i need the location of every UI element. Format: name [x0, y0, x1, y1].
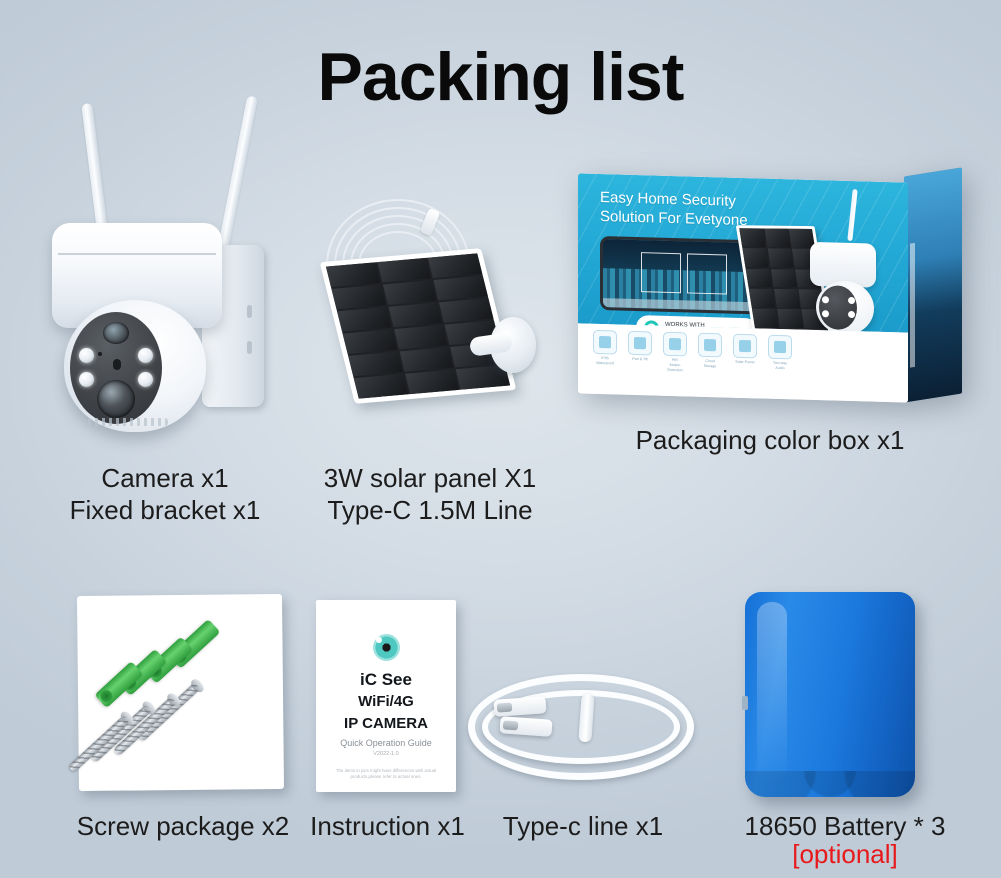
cloud-storage-icon: [698, 332, 722, 357]
mic-hole-icon: [98, 352, 102, 356]
type-c-line-caption: Type-c line x1: [483, 810, 683, 842]
camera-face-panel: [70, 312, 162, 424]
led-icon: [79, 348, 94, 363]
feature-item: Pan & Tilt: [627, 330, 653, 372]
type-c-connector-icon: [499, 716, 552, 737]
retail-box-icon: Easy Home Security Solution For Evetyone…: [578, 172, 962, 404]
instruction-caption: Instruction x1: [300, 810, 475, 842]
solar-panel-icon: [320, 195, 550, 415]
feature-item: IP65 Waterproof: [592, 329, 618, 371]
feature-item: Solar Power: [732, 333, 758, 375]
manual-line-2: WiFi/4G: [316, 693, 456, 710]
pir-sensor-icon: [113, 359, 121, 370]
feature-item: PIR Motion Detection: [662, 331, 688, 373]
box-headline: Easy Home Security Solution For Evetyone: [600, 188, 748, 230]
motion-detect-icon: [663, 331, 687, 356]
led-icon: [79, 372, 94, 387]
battery-tab-icon: [742, 696, 748, 710]
color-box-caption: Packaging color box x1: [590, 424, 950, 456]
battery-optional-note: [optional]: [700, 838, 990, 870]
ptz-camera-icon: [50, 95, 280, 455]
ic-see-eye-logo-icon: [373, 634, 400, 661]
camera-caption: Camera x1 Fixed bracket x1: [20, 462, 310, 526]
box-feature-icons: IP65 Waterproof Pan & Tilt PIR Motion De…: [592, 329, 793, 376]
led-icon: [138, 372, 153, 387]
packing-list-page: Packing list Camera x1 Fixed bracket x1: [0, 0, 1001, 878]
screws-and-anchors-icon: [77, 594, 284, 791]
solar-power-icon: [733, 333, 757, 358]
manual-subtitle: Quick Operation Guide: [316, 738, 456, 748]
feature-item: Two-way Audio: [767, 334, 793, 376]
manual-brand: iC See: [316, 670, 456, 690]
screw-package-caption: Screw package x2: [58, 810, 308, 842]
antenna-right-icon: [217, 95, 258, 254]
pan-tilt-icon: [628, 330, 652, 355]
solar-panel-caption: 3W solar panel X1 Type-C 1.5M Line: [280, 462, 580, 526]
camera-dome: [64, 300, 206, 432]
solar-panel-mount: [470, 313, 536, 379]
feature-item: Cloud Storage: [697, 332, 723, 374]
box-front-panel: Easy Home Security Solution For Evetyone…: [578, 173, 908, 402]
battery-pack-icon: [745, 592, 915, 797]
speaker-vent-icon: [88, 418, 168, 426]
camera-top-lens-icon: [103, 322, 129, 344]
box-art-camera-icon: [806, 216, 892, 332]
manual-line-3: IP CAMERA: [316, 715, 456, 732]
manual-disclaimer: The items in pics might have differences…: [326, 768, 446, 780]
box-side-panel: [904, 167, 962, 402]
led-icon: [138, 348, 153, 363]
manual-version: V2022-1.0: [316, 751, 456, 757]
usb-connector-icon: [493, 696, 546, 717]
usb-cable-icon: [460, 660, 700, 795]
camera-main-lens-icon: [97, 380, 135, 418]
two-way-audio-icon: [768, 334, 792, 359]
manual-booklet-icon: iC See WiFi/4G IP CAMERA Quick Operation…: [316, 600, 456, 792]
waterproof-icon: [593, 329, 617, 354]
